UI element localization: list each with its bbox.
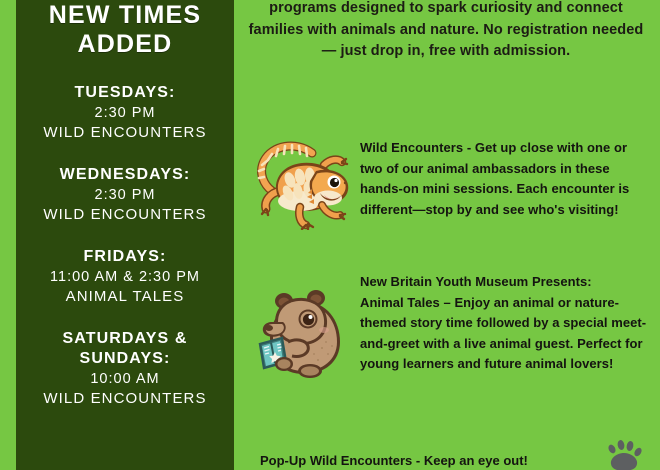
schedule-time: 2:30 PM: [24, 185, 226, 205]
schedule-program: ANIMAL TALES: [24, 287, 226, 307]
bearded-dragon-illustration: [242, 135, 352, 230]
entry-wild-encounters: Wild Encounters - Get up close with one …: [234, 130, 660, 230]
entry-animal-tales: New Britain Youth Museum Presents: Anima…: [234, 272, 660, 397]
schedule-time: 11:00 AM & 2:30 PM: [24, 267, 226, 287]
animal-tales-presenter: New Britain Youth Museum Presents:: [360, 274, 592, 289]
schedule-block-weekend: SATURDAYS & SUNDAYS: 10:00 AM WILD ENCOU…: [24, 329, 226, 409]
animal-tales-heading: Animal Tales: [360, 295, 440, 310]
schedule-day: TUESDAYS:: [24, 83, 226, 103]
wild-encounters-separator: -: [463, 140, 475, 155]
schedule-time: 10:00 AM: [24, 369, 226, 389]
poster-canvas: NEW TIMES ADDED TUESDAYS: 2:30 PM WILD E…: [0, 0, 660, 470]
popup-body: Keep an eye out!: [420, 453, 528, 468]
capybara-reading-illustration: [248, 276, 348, 381]
schedule-day: WEDNESDAYS:: [24, 165, 226, 185]
animal-tales-copy: New Britain Youth Museum Presents: Anima…: [360, 272, 655, 375]
schedule-day: SATURDAYS & SUNDAYS:: [24, 329, 226, 369]
wild-encounters-copy: Wild Encounters - Get up close with one …: [360, 138, 650, 220]
animal-tales-separator: –: [440, 295, 455, 310]
schedule-panel: NEW TIMES ADDED TUESDAYS: 2:30 PM WILD E…: [16, 0, 234, 470]
popup-wild-encounters-line: Pop-Up Wild Encounters - Keep an eye out…: [260, 452, 590, 470]
content-panel: programs designed to spark curiosity and…: [234, 0, 660, 470]
schedule-program: WILD ENCOUNTERS: [24, 123, 226, 143]
schedule-day: FRIDAYS:: [24, 247, 226, 267]
intro-paragraph: programs designed to spark curiosity and…: [246, 0, 646, 63]
wild-encounters-heading: Wild Encounters: [360, 140, 463, 155]
schedule-title: NEW TIMES ADDED: [24, 0, 226, 59]
schedule-block-fridays: FRIDAYS: 11:00 AM & 2:30 PM ANIMAL TALES: [24, 247, 226, 307]
paw-print-icon: [602, 440, 646, 470]
popup-heading: Pop-Up Wild Encounters -: [260, 453, 420, 468]
schedule-program: WILD ENCOUNTERS: [24, 389, 226, 409]
schedule-block-tuesdays: TUESDAYS: 2:30 PM WILD ENCOUNTERS: [24, 83, 226, 143]
schedule-program: WILD ENCOUNTERS: [24, 205, 226, 225]
schedule-time: 2:30 PM: [24, 103, 226, 123]
schedule-block-wednesdays: WEDNESDAYS: 2:30 PM WILD ENCOUNTERS: [24, 165, 226, 225]
